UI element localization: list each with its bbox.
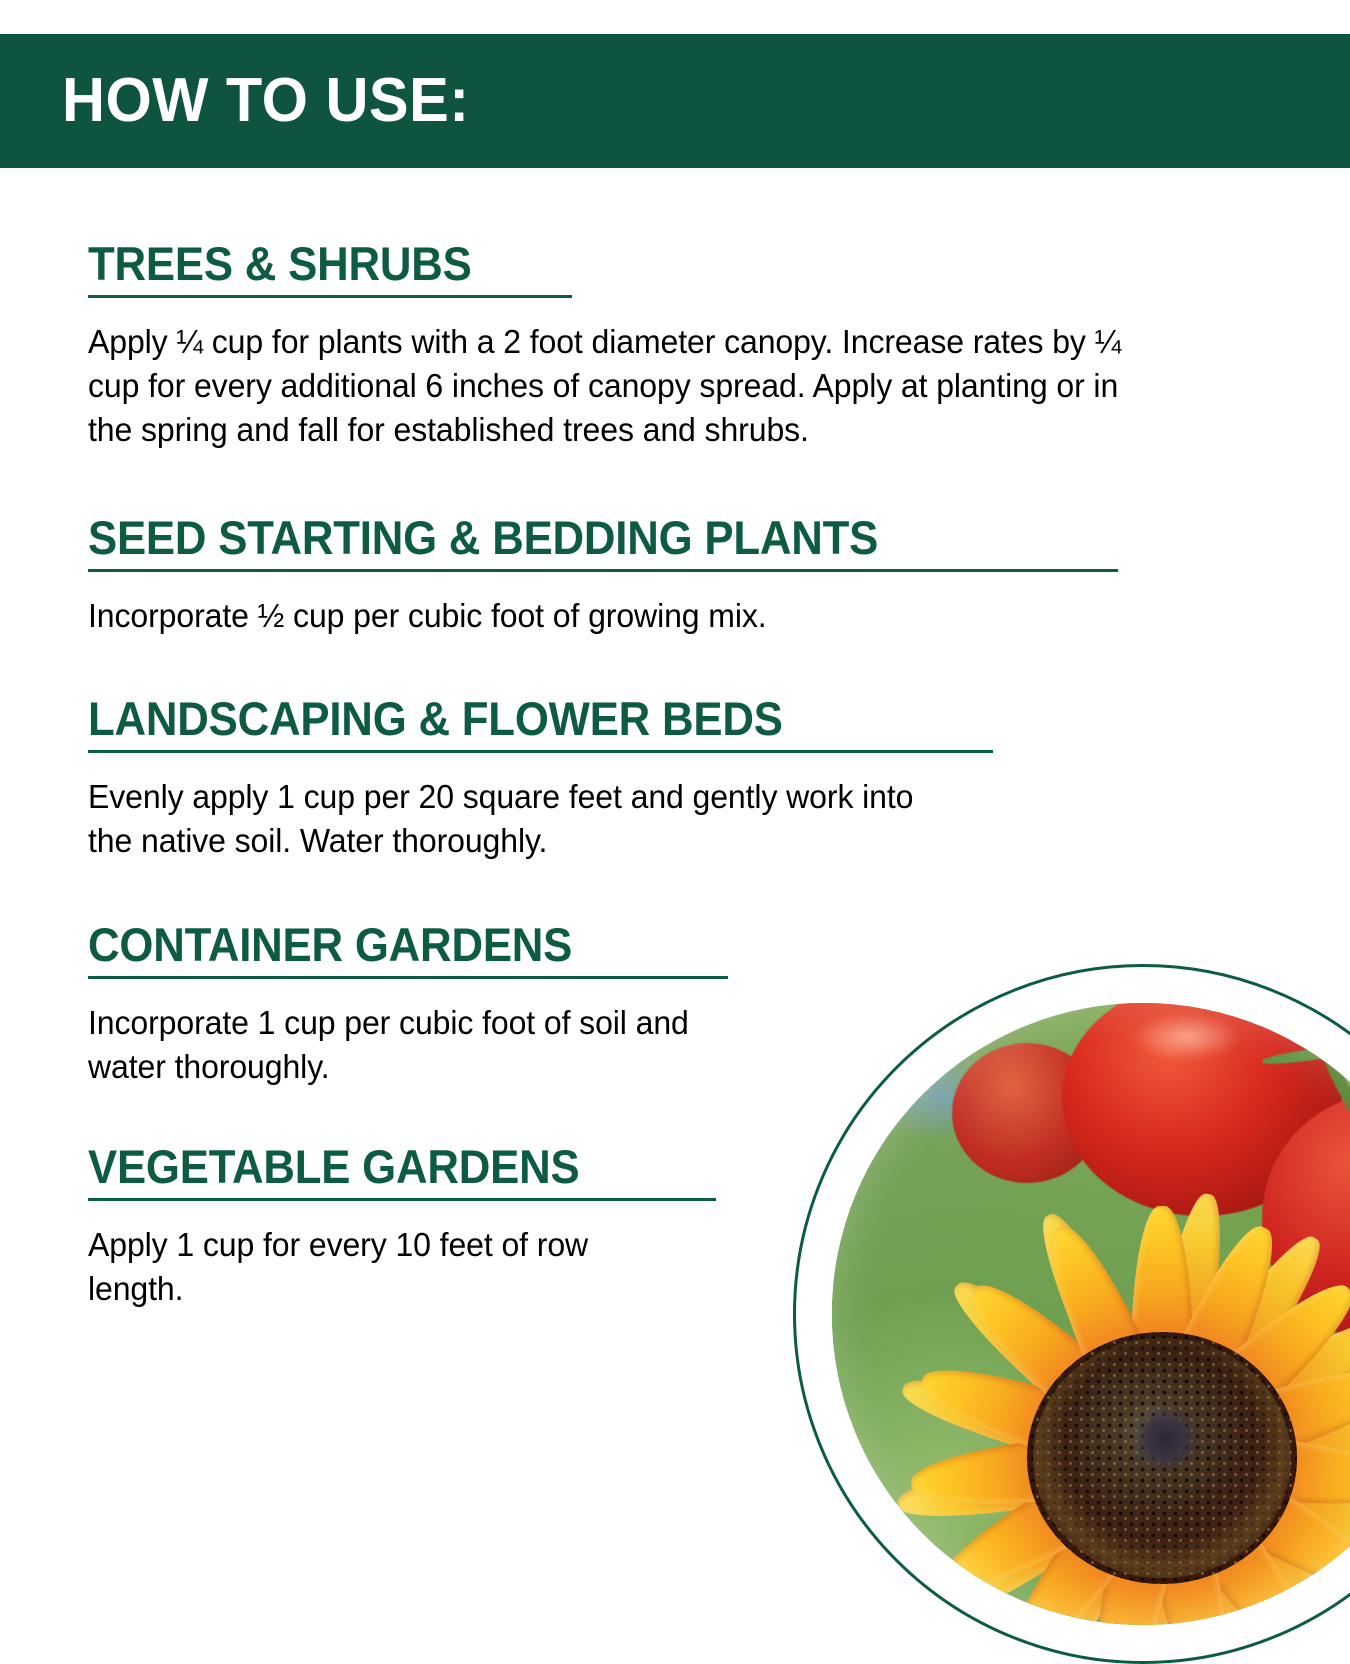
section-heading-wrap: SEED STARTING & BEDDING PLANTS <box>88 514 1208 562</box>
page-title: HOW TO USE: <box>62 70 470 132</box>
section-body-wrap: Evenly apply 1 cup per 20 square feet an… <box>88 775 942 863</box>
section-body-trees-and-shrubs: Apply ¼ cup for plants with a 2 foot dia… <box>88 320 1170 452</box>
section-vegetable-gardens: VEGETABLE GARDENS Apply 1 cup for every … <box>88 1143 1208 1311</box>
heading-underline <box>88 1198 716 1201</box>
section-heading-container-gardens: CONTAINER GARDENS <box>88 921 572 969</box>
section-heading-vegetable-gardens: VEGETABLE GARDENS <box>88 1143 579 1191</box>
section-body-vegetable-gardens: Apply 1 cup for every 10 feet of row len… <box>88 1223 670 1311</box>
section-heading-wrap: TREES & SHRUBS <box>88 240 1208 288</box>
heading-underline <box>88 976 728 979</box>
sunflower-disc <box>1027 1332 1297 1584</box>
section-heading-landscaping-and-flower-beds: LANDSCAPING & FLOWER BEDS <box>88 695 783 743</box>
section-heading-trees-and-shrubs: TREES & SHRUBS <box>88 240 472 288</box>
section-body-wrap: Incorporate 1 cup per cubic foot of soil… <box>88 1001 689 1089</box>
section-body-seed-starting-and-bedding-plants: Incorporate ½ cup per cubic foot of grow… <box>88 594 1058 638</box>
section-heading-wrap: VEGETABLE GARDENS <box>88 1143 1208 1191</box>
section-heading-seed-starting-and-bedding-plants: SEED STARTING & BEDDING PLANTS <box>88 514 878 562</box>
section-heading-wrap: LANDSCAPING & FLOWER BEDS <box>88 695 1208 743</box>
section-body-wrap: Apply ¼ cup for plants with a 2 foot dia… <box>88 320 1170 452</box>
sunflower-disc-center <box>1130 1408 1200 1470</box>
section-landscaping-and-flower-beds: LANDSCAPING & FLOWER BEDS Evenly apply 1… <box>88 695 1208 863</box>
instructions-list: TREES & SHRUBS Apply ¼ cup for plants wi… <box>88 240 1208 1310</box>
section-seed-starting-and-bedding-plants: SEED STARTING & BEDDING PLANTS Incorpora… <box>88 514 1208 638</box>
section-body-wrap: Apply 1 cup for every 10 feet of row len… <box>88 1223 670 1311</box>
section-body-wrap: Incorporate ½ cup per cubic foot of grow… <box>88 594 1058 638</box>
section-body-landscaping-and-flower-beds: Evenly apply 1 cup per 20 square feet an… <box>88 775 942 863</box>
section-trees-and-shrubs: TREES & SHRUBS Apply ¼ cup for plants wi… <box>88 240 1208 452</box>
section-container-gardens: CONTAINER GARDENS Incorporate 1 cup per … <box>88 921 1208 1089</box>
heading-underline <box>88 750 993 753</box>
section-body-container-gardens: Incorporate 1 cup per cubic foot of soil… <box>88 1001 689 1089</box>
section-heading-wrap: CONTAINER GARDENS <box>88 921 1208 969</box>
heading-underline <box>88 295 572 298</box>
header-band: HOW TO USE: <box>0 34 1350 168</box>
heading-underline <box>88 569 1118 572</box>
